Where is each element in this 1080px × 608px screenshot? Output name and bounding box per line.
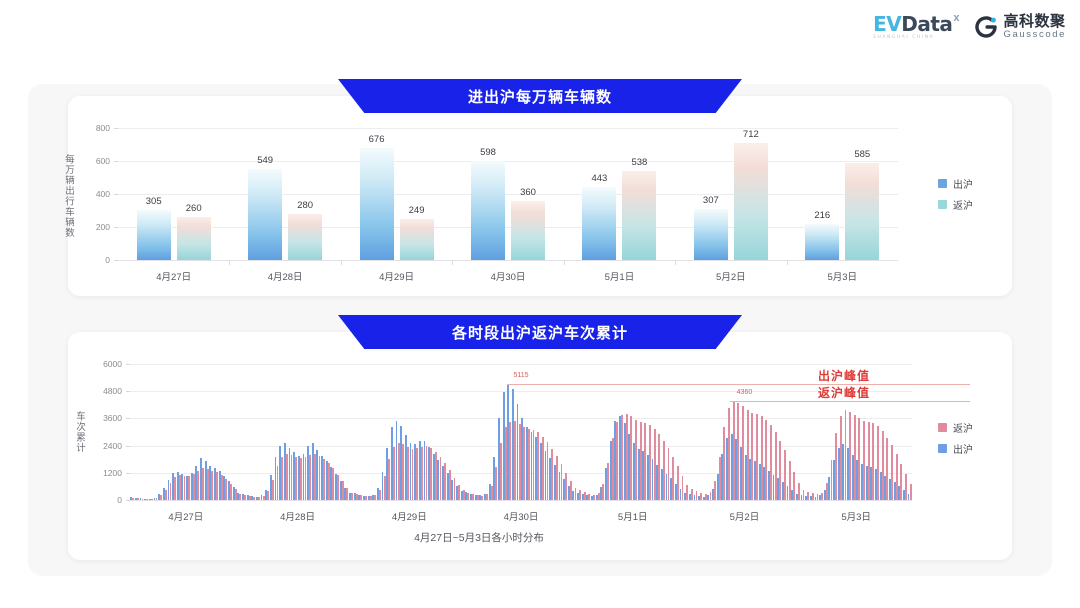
hourly-bar-depart xyxy=(526,427,528,500)
hourly-bar-return xyxy=(323,459,325,500)
hourly-bar-return xyxy=(509,422,511,500)
hourly-bar-depart xyxy=(638,449,640,500)
y-tick-label: 800 xyxy=(70,123,110,133)
hourly-bar-depart xyxy=(386,448,388,500)
hourly-bar-depart xyxy=(666,474,668,500)
hourly-bar-depart xyxy=(209,466,211,500)
hourly-bar-return xyxy=(770,425,772,500)
hourly-bar-return xyxy=(798,483,800,500)
hourly-bar-return xyxy=(174,477,176,500)
y-tick-mark xyxy=(114,194,118,195)
hourly-bar-return xyxy=(435,452,437,500)
hourly-bar-depart xyxy=(372,495,374,500)
hourly-bar-return xyxy=(779,441,781,500)
hourly-bar-return xyxy=(644,423,646,500)
hourly-bar-return xyxy=(505,427,507,500)
hourly-bar-return xyxy=(640,422,642,500)
x-tick-label-vehicles: 5月2日 xyxy=(716,269,746,283)
hourly-bar-depart xyxy=(261,495,263,500)
hourly-bar-depart xyxy=(512,389,514,500)
hourly-bar-depart xyxy=(303,454,305,500)
hourly-bar-return xyxy=(328,463,330,500)
gridline xyxy=(130,391,912,392)
hourly-bar-return xyxy=(519,424,521,500)
hourly-bar-depart xyxy=(228,481,230,500)
hourly-bar-return xyxy=(672,457,674,500)
hourly-bar-depart xyxy=(382,472,384,500)
gridline xyxy=(130,364,912,365)
hourly-bar-return xyxy=(728,408,730,500)
hourly-bar-depart xyxy=(647,455,649,500)
hourly-bar-depart xyxy=(154,498,156,500)
hourly-bar-depart xyxy=(545,451,547,500)
bar-value-label: 676 xyxy=(369,134,385,145)
hourly-bar-return xyxy=(239,494,241,500)
legend-label: 出沪 xyxy=(953,441,973,456)
hourly-bar-depart xyxy=(796,494,798,500)
peak-name-return: 返沪峰值 xyxy=(818,384,870,401)
legend-item: 返沪 xyxy=(938,420,973,435)
bar-value-label: 585 xyxy=(854,149,870,160)
group-separator xyxy=(787,260,788,265)
hourly-bar-depart xyxy=(726,438,728,500)
hourly-bar-return xyxy=(588,494,590,500)
hourly-bar-depart xyxy=(335,474,337,500)
legend-swatch xyxy=(938,444,947,453)
y-tick-mark xyxy=(126,364,130,365)
bar-返沪 xyxy=(400,219,434,260)
hourly-bar-return xyxy=(495,467,497,500)
y-axis-label-hourly: 车次累计 xyxy=(72,364,86,500)
bar-出沪 xyxy=(137,210,171,260)
hourly-bar-depart xyxy=(717,474,719,500)
hourly-bar-depart xyxy=(740,447,742,500)
hourly-bar-return xyxy=(500,443,502,500)
gausscode-logo: 高科数聚 Gausscode xyxy=(974,14,1066,40)
hourly-bar-return xyxy=(817,494,819,500)
hourly-bar-depart xyxy=(214,468,216,500)
hourly-bar-return xyxy=(835,433,837,500)
logo-group: EVData x SHANGHAI CHINA 高科数聚 Gausscode xyxy=(873,14,1066,40)
hourly-bar-return xyxy=(193,474,195,500)
hourly-bar-depart xyxy=(712,489,714,500)
hourly-bar-return xyxy=(658,434,660,500)
hourly-bar-depart xyxy=(600,487,602,500)
hourly-bar-depart xyxy=(316,450,318,500)
hourly-bar-depart xyxy=(894,482,896,500)
hourly-bar-return xyxy=(691,489,693,500)
y-tick-mark xyxy=(126,500,130,501)
hourly-bar-depart xyxy=(535,437,537,500)
hourly-bar-return xyxy=(905,474,907,500)
hourly-bar-depart xyxy=(610,441,612,500)
hourly-bar-return xyxy=(547,442,549,500)
hourly-bar-return xyxy=(388,459,390,500)
hourly-bar-return xyxy=(374,495,376,500)
y-tick-label: 600 xyxy=(70,156,110,166)
bar-value-label: 260 xyxy=(186,203,202,214)
y-tick-label: 1200 xyxy=(80,468,122,478)
hourly-bar-depart xyxy=(661,469,663,500)
hourly-bar-depart xyxy=(656,465,658,500)
hourly-bar-depart xyxy=(377,488,379,500)
hourly-bar-return xyxy=(216,472,218,500)
hourly-bar-return xyxy=(421,447,423,500)
hourly-bar-depart xyxy=(465,492,467,500)
gausscode-mark-icon xyxy=(974,15,998,39)
x-tick-label-hourly: 5月3日 xyxy=(841,509,871,523)
bar-返沪 xyxy=(288,214,322,260)
hourly-bar-depart xyxy=(754,461,756,500)
x-tick-label-vehicles: 4月28日 xyxy=(268,269,303,283)
hourly-bar-return xyxy=(160,495,162,500)
hourly-bar-depart xyxy=(624,423,626,500)
y-tick-label: 0 xyxy=(80,495,122,505)
legend-item: 出沪 xyxy=(938,441,973,456)
hourly-bar-depart xyxy=(191,473,193,500)
page-header: EVData x SHANGHAI CHINA 高科数聚 Gausscode xyxy=(0,0,1080,62)
hourly-bar-depart xyxy=(326,461,328,500)
hourly-bar-return xyxy=(742,406,744,500)
hourly-bar-depart xyxy=(368,496,370,500)
bar-value-label: 443 xyxy=(591,173,607,184)
hourly-bar-depart xyxy=(680,489,682,500)
hourly-bar-return xyxy=(686,485,688,500)
hourly-bar-depart xyxy=(321,456,323,500)
gridline xyxy=(118,227,898,228)
hourly-bar-depart xyxy=(531,432,533,500)
hourly-bar-depart xyxy=(330,467,332,500)
hourly-bar-depart xyxy=(414,444,416,500)
hourly-bar-return xyxy=(575,488,577,500)
legend-label: 返沪 xyxy=(953,197,973,212)
hourly-bar-return xyxy=(654,429,656,500)
hourly-bar-return xyxy=(477,495,479,500)
hourly-bar-depart xyxy=(400,426,402,500)
hourly-bar-return xyxy=(258,497,260,500)
y-tick-mark xyxy=(114,227,118,228)
hourly-bar-return xyxy=(379,490,381,500)
hourly-bar-return xyxy=(472,494,474,500)
y-tick-label: 6000 xyxy=(80,359,122,369)
hourly-bar-depart xyxy=(489,484,491,500)
hourly-bar-depart xyxy=(628,434,630,500)
group-separator xyxy=(452,260,453,265)
hourly-bar-return xyxy=(151,499,153,500)
hourly-bar-return xyxy=(156,498,158,500)
hourly-bar-depart xyxy=(875,469,877,500)
hourly-bar-return xyxy=(616,422,618,500)
hourly-bar-return xyxy=(351,493,353,500)
x-tick-label-hourly: 5月2日 xyxy=(730,509,760,523)
hourly-bar-depart xyxy=(484,494,486,500)
evdata-superscript: x xyxy=(953,13,959,24)
hourly-bar-depart xyxy=(698,496,700,500)
legend-item: 出沪 xyxy=(938,176,973,191)
legend-hourly: 返沪出沪 xyxy=(938,420,973,456)
hourly-bar-depart xyxy=(782,482,784,500)
hourly-bar-depart xyxy=(582,494,584,500)
hourly-bar-return xyxy=(225,479,227,500)
hourly-bar-depart xyxy=(219,471,221,500)
bar-出沪 xyxy=(694,209,728,260)
hourly-bar-depart xyxy=(475,495,477,500)
hourly-bar-return xyxy=(719,457,721,500)
hourly-bar-return xyxy=(412,449,414,500)
hourly-bar-depart xyxy=(652,459,654,500)
hourly-bar-depart xyxy=(410,443,412,500)
hourly-bar-return xyxy=(370,496,372,500)
bar-出沪 xyxy=(805,224,839,260)
hourly-bar-return xyxy=(142,499,144,500)
hourly-bar-return xyxy=(528,429,530,500)
hourly-bar-depart xyxy=(824,490,826,500)
hourly-bar-return xyxy=(826,483,828,500)
hourly-bar-return xyxy=(854,415,856,500)
hourly-bar-depart xyxy=(177,472,179,500)
hourly-bar-depart xyxy=(763,467,765,500)
bar-value-label: 360 xyxy=(520,187,536,198)
hourly-bar-depart xyxy=(256,497,258,500)
evdata-data-span: Data xyxy=(901,12,952,36)
x-tick-label-hourly: 4月29日 xyxy=(392,509,427,523)
hourly-bar-depart xyxy=(549,458,551,500)
hourly-bar-return xyxy=(882,431,884,500)
hourly-bar-depart xyxy=(870,467,872,500)
hourly-bar-return xyxy=(514,421,516,500)
hourly-bar-return xyxy=(444,463,446,500)
hourly-bar-depart xyxy=(270,475,272,500)
hourly-bar-return xyxy=(332,468,334,500)
hourly-bar-return xyxy=(677,466,679,500)
hourly-bar-depart xyxy=(670,478,672,500)
hourly-bar-depart xyxy=(284,443,286,500)
hourly-bar-return xyxy=(714,481,716,500)
hourly-bar-depart xyxy=(419,441,421,500)
hourly-bar-return xyxy=(821,493,823,500)
hourly-bar-return xyxy=(751,413,753,500)
hourly-bar-depart xyxy=(433,454,435,500)
hourly-bar-depart xyxy=(289,448,291,500)
hourly-bar-return xyxy=(696,491,698,500)
hourly-bar-return xyxy=(305,457,307,500)
x-tick-label-vehicles: 4月29日 xyxy=(379,269,414,283)
hourly-bar-return xyxy=(267,491,269,500)
evdata-ev-text: EVData xyxy=(873,14,952,34)
hourly-bar-depart xyxy=(586,495,588,500)
hourly-bar-return xyxy=(454,478,456,500)
hourly-bar-depart xyxy=(614,421,616,500)
hourly-bar-return xyxy=(416,448,418,500)
hourly-bar-return xyxy=(551,449,553,500)
hourly-bar-return xyxy=(272,480,274,500)
hourly-bar-depart xyxy=(349,493,351,500)
hourly-bar-return xyxy=(910,484,912,500)
x-tick-label-hourly: 5月1日 xyxy=(618,509,648,523)
hourly-bar-return xyxy=(533,430,535,500)
hourly-bar-return xyxy=(402,444,404,500)
hourly-bar-depart xyxy=(140,498,142,500)
hourly-bar-return xyxy=(733,401,735,500)
gridline xyxy=(118,161,898,162)
gridline xyxy=(118,128,898,129)
hourly-bar-depart xyxy=(507,384,509,500)
hourly-bar-depart xyxy=(572,491,574,500)
bar-value-label: 549 xyxy=(257,155,273,166)
hourly-bar-return xyxy=(523,427,525,500)
x-tick-label-hourly: 4月30日 xyxy=(504,509,539,523)
peak-name-depart: 出沪峰值 xyxy=(818,367,870,384)
hourly-bar-return xyxy=(463,490,465,500)
hourly-bar-depart xyxy=(787,486,789,500)
hourly-bar-depart xyxy=(731,434,733,500)
hourly-bar-return xyxy=(891,445,893,500)
hourly-bar-depart xyxy=(675,484,677,500)
hourly-bar-return xyxy=(398,443,400,500)
bar-value-label: 305 xyxy=(146,196,162,207)
hourly-bar-depart xyxy=(880,472,882,500)
hourly-bar-return xyxy=(300,458,302,500)
hourly-bar-depart xyxy=(391,427,393,500)
hourly-bar-depart xyxy=(186,476,188,500)
hourly-bar-depart xyxy=(396,421,398,500)
bar-value-label: 712 xyxy=(743,129,759,140)
hourly-bar-return xyxy=(872,423,874,500)
hourly-bar-depart xyxy=(493,457,495,500)
hourly-bar-return xyxy=(277,466,279,500)
hourly-bar-depart xyxy=(503,392,505,500)
hourly-bar-return xyxy=(295,457,297,500)
hourly-bar-depart xyxy=(684,493,686,500)
hourly-bar-depart xyxy=(149,499,151,500)
hourly-bar-depart xyxy=(428,447,430,500)
peak-value-depart: 5115 xyxy=(514,372,529,379)
hourly-bar-return xyxy=(900,464,902,500)
hourly-bar-depart xyxy=(405,435,407,500)
hourly-bar-depart xyxy=(158,494,160,500)
x-axis-caption-hourly: 4月27日~5月3日各小时分布 xyxy=(414,530,544,545)
hourly-bar-return xyxy=(449,470,451,500)
hourly-bar-return xyxy=(235,489,237,500)
hourly-bar-depart xyxy=(842,444,844,500)
y-tick-mark xyxy=(114,161,118,162)
hourly-bar-return xyxy=(649,425,651,500)
hourly-bar-depart xyxy=(833,460,835,500)
hourly-bar-return xyxy=(765,420,767,500)
hourly-bar-return xyxy=(612,438,614,500)
hourly-bar-depart xyxy=(540,443,542,500)
hourly-bar-return xyxy=(840,416,842,500)
hourly-bar-return xyxy=(458,485,460,500)
hourly-bar-return xyxy=(723,427,725,500)
hourly-bar-depart xyxy=(707,495,709,500)
hourly-bar-depart xyxy=(470,494,472,500)
section-title-hourly: 各时段出沪返沪车次累计 xyxy=(338,315,742,349)
hourly-bar-return xyxy=(253,497,255,500)
y-tick-label: 2400 xyxy=(80,441,122,451)
hourly-bar-depart xyxy=(852,455,854,500)
hourly-bar-return xyxy=(286,454,288,500)
hourly-bar-return xyxy=(705,494,707,500)
x-axis-line xyxy=(118,260,898,261)
hourly-bar-return xyxy=(197,471,199,500)
hourly-bar-return xyxy=(165,490,167,500)
x-axis-line xyxy=(130,500,912,501)
hourly-bar-return xyxy=(393,447,395,500)
hourly-bar-depart xyxy=(135,498,137,500)
legend-swatch xyxy=(938,179,947,188)
hourly-bar-depart xyxy=(168,480,170,500)
hourly-bar-depart xyxy=(596,495,598,500)
x-tick-label-hourly: 4月27日 xyxy=(168,509,203,523)
legend-swatch xyxy=(938,200,947,209)
hourly-bar-depart xyxy=(721,454,723,500)
hourly-bar-depart xyxy=(172,473,174,500)
hourly-bar-depart xyxy=(689,494,691,500)
bar-value-label: 307 xyxy=(703,195,719,206)
hourly-bar-depart xyxy=(265,490,267,500)
hourly-bar-return xyxy=(137,498,139,500)
legend-swatch xyxy=(938,423,947,432)
hourly-bar-depart xyxy=(577,493,579,500)
hourly-bar-depart xyxy=(801,495,803,500)
hourly-bar-return xyxy=(211,471,213,500)
hourly-bar-return xyxy=(491,486,493,500)
x-tick-label-vehicles: 4月27日 xyxy=(156,269,191,283)
hourly-bar-return xyxy=(863,421,865,500)
y-tick-mark xyxy=(126,418,130,419)
hourly-bar-return xyxy=(384,476,386,500)
bar-chart-hourly: 车次累计0120024003600480060004月27日4月28日4月29日… xyxy=(130,364,912,500)
y-tick-label: 200 xyxy=(70,222,110,232)
hourly-bar-depart xyxy=(889,479,891,500)
bar-value-label: 249 xyxy=(409,205,425,216)
peak-line-depart xyxy=(507,384,970,385)
hourly-bar-depart xyxy=(633,443,635,500)
y-tick-mark xyxy=(126,391,130,392)
hourly-bar-depart xyxy=(344,488,346,500)
gausscode-text: 高科数聚 Gausscode xyxy=(1004,14,1066,40)
group-separator xyxy=(564,260,565,265)
hourly-bar-return xyxy=(360,495,362,500)
bar-返沪 xyxy=(511,201,545,260)
hourly-bar-depart xyxy=(498,418,500,500)
hourly-bar-return xyxy=(467,493,469,500)
hourly-bar-return xyxy=(244,495,246,500)
hourly-bar-depart xyxy=(805,496,807,500)
hourly-bar-depart xyxy=(768,471,770,500)
hourly-bar-return xyxy=(803,490,805,500)
hourly-bar-return xyxy=(188,476,190,500)
legend-label: 出沪 xyxy=(953,176,973,191)
hourly-bar-return xyxy=(877,426,879,500)
bar-出沪 xyxy=(582,187,616,260)
hourly-bar-return xyxy=(868,422,870,500)
evdata-logo: EVData x SHANGHAI CHINA xyxy=(873,14,959,40)
hourly-bar-return xyxy=(184,476,186,500)
hourly-bar-depart xyxy=(759,464,761,500)
hourly-bar-depart xyxy=(442,466,444,500)
hourly-bar-depart xyxy=(815,497,817,500)
hourly-bar-depart xyxy=(479,495,481,500)
hourly-bar-return xyxy=(202,468,204,500)
hourly-bar-return xyxy=(346,488,348,500)
hourly-bar-depart xyxy=(307,446,309,500)
hourly-bar-return xyxy=(221,475,223,500)
hourly-bar-return xyxy=(635,420,637,500)
hourly-bar-depart xyxy=(791,490,793,500)
hourly-bar-depart xyxy=(866,466,868,500)
